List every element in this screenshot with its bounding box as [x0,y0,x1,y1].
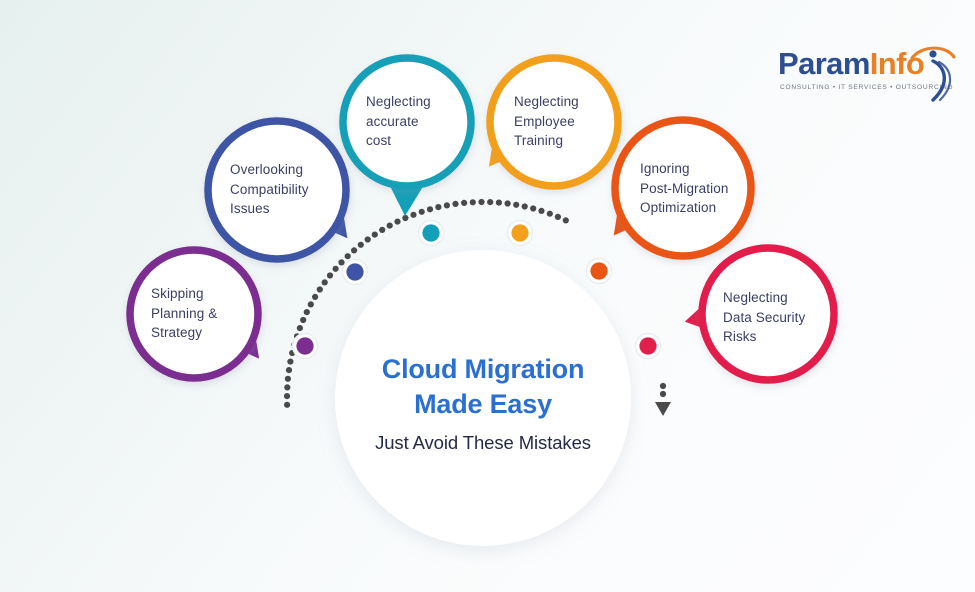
brand-logo[interactable]: ParamInfo CONSULTING • IT SERVICES • OUT… [778,40,963,102]
arc-arrowhead [655,402,671,416]
bubble-overlooking-compatibility-issues[interactable] [208,121,346,259]
bubble-neglecting-data-security-risks[interactable] [702,248,834,380]
bubble-ignoring-post-migration-optimization[interactable] [615,120,751,256]
bubble-neglecting-accurate-cost[interactable] [343,58,471,186]
arc-marker-neglecting-accurate-cost[interactable] [422,224,439,241]
arc-marker-ignoring-post-migration-optimization[interactable] [590,262,607,279]
bubble-neglecting-employee-training[interactable] [490,58,618,186]
arc-marker-neglecting-data-security-risks[interactable] [639,337,656,354]
logo-figure-icon [906,40,966,102]
arc-marker-skipping-planning-strategy[interactable] [296,337,313,354]
arc-marker-overlooking-compatibility-issues[interactable] [346,263,363,280]
logo-wordmark: ParamInfo [778,46,924,82]
arc-marker-neglecting-employee-training[interactable] [511,224,528,241]
center-subtitle: Just Avoid These Mistakes [333,432,633,454]
infographic-canvas: Skipping Planning & StrategyOverlooking … [0,0,975,592]
center-title: Cloud Migration Made Easy [333,352,633,421]
bubble-skipping-planning-strategy[interactable] [130,250,258,378]
center-text-block: Cloud Migration Made Easy Just Avoid The… [333,352,633,454]
logo-word-param: Param [778,46,870,81]
